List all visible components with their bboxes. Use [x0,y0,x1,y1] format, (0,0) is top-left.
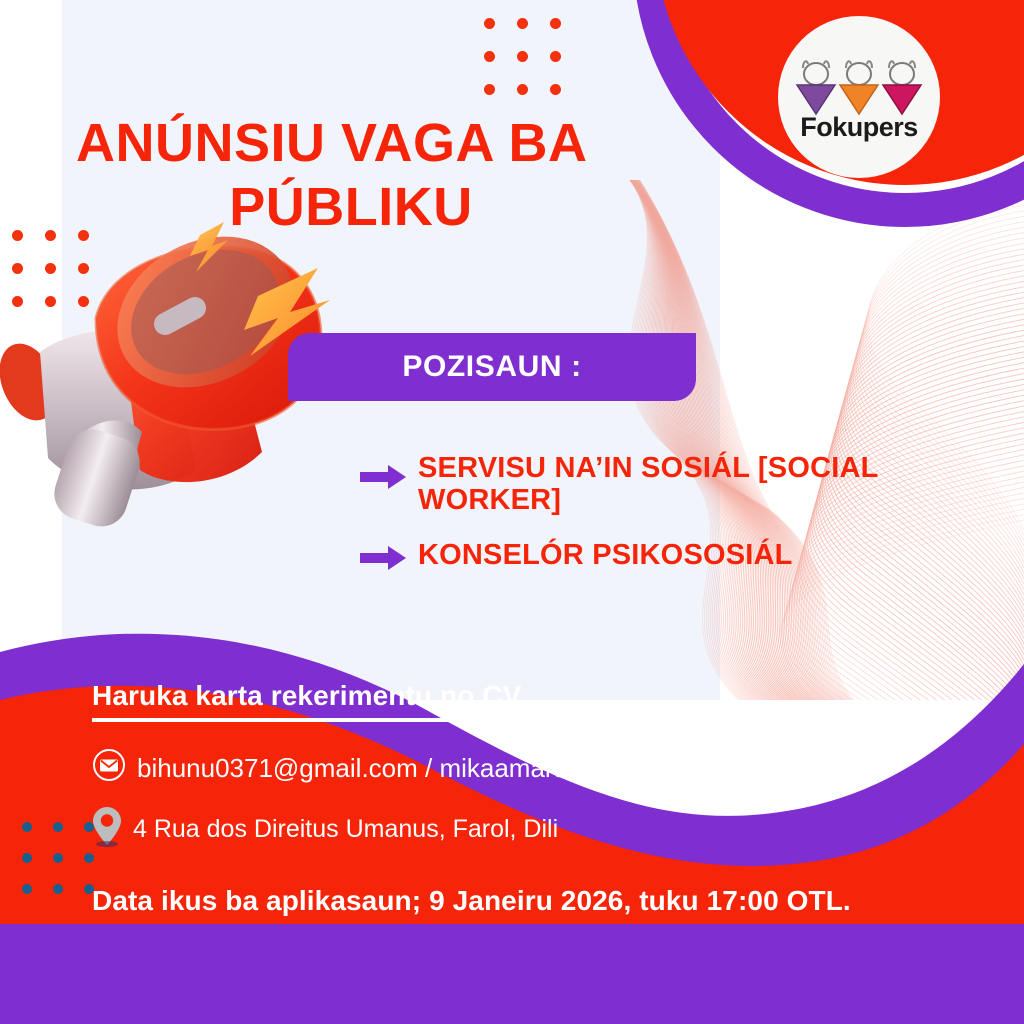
footer-deadline: Data ikus ba aplikasaun; 9 Janeiru 2026,… [92,885,851,917]
dot [84,853,94,863]
dot [53,822,63,832]
logo-wordmark: Fokupers [800,114,918,141]
arrow-right-icon [360,539,418,576]
page-title: ANÚNSIU VAGA BA PÚBLIKU [60,112,620,239]
dot [84,884,94,894]
footer-divider [92,718,600,722]
dot-grid-bottom [22,822,84,884]
footer-email-line: bihunu0371@gmail.com / mikaamaral82@gmai… [92,748,748,789]
position-banner-label: POZISAUN : [402,350,581,384]
dot [22,822,32,832]
footer-address-line: 4 Rua dos Direitus Umanus, Farol, Dili [92,805,558,854]
footer-email-text[interactable]: bihunu0371@gmail.com / mikaamaral82@gmai… [137,753,748,784]
logo-figure-orange [838,58,880,116]
position-banner: POZISAUN : [288,333,696,401]
fokupers-logo: Fokupers [778,16,940,178]
position-item: SERVISU NA’IN SOSIÁL [SOCIAL WORKER] [360,452,980,517]
position-item: KONSELÓR PSIKOSOSIÁL [360,539,980,576]
footer-heading: Haruka karta rekerimentu no CV [92,680,521,712]
position-list: SERVISU NA’IN SOSIÁL [SOCIAL WORKER] KON… [360,452,980,598]
dot [22,853,32,863]
footer-address-text: 4 Rua dos Direitus Umanus, Farol, Dili [133,815,558,844]
dot [53,853,63,863]
title-line-2: PÚBLIKU [60,176,620,240]
dot [22,884,32,894]
dot [84,822,94,832]
location-pin-icon [92,805,122,854]
poster-canvas: Fokupers ANÚNSIU VAGA BA PÚBLIKU POZISAU… [0,0,1024,1024]
logo-figures [795,58,923,116]
arrow-right-icon [360,452,418,495]
position-item-label: SERVISU NA’IN SOSIÁL [SOCIAL WORKER] [418,452,980,517]
position-item-label: KONSELÓR PSIKOSOSIÁL [418,539,793,571]
logo-figure-magenta [881,58,923,116]
title-line-1: ANÚNSIU VAGA BA [60,112,620,176]
envelope-icon [92,748,126,789]
logo-figure-purple [795,58,837,116]
dot [53,884,63,894]
